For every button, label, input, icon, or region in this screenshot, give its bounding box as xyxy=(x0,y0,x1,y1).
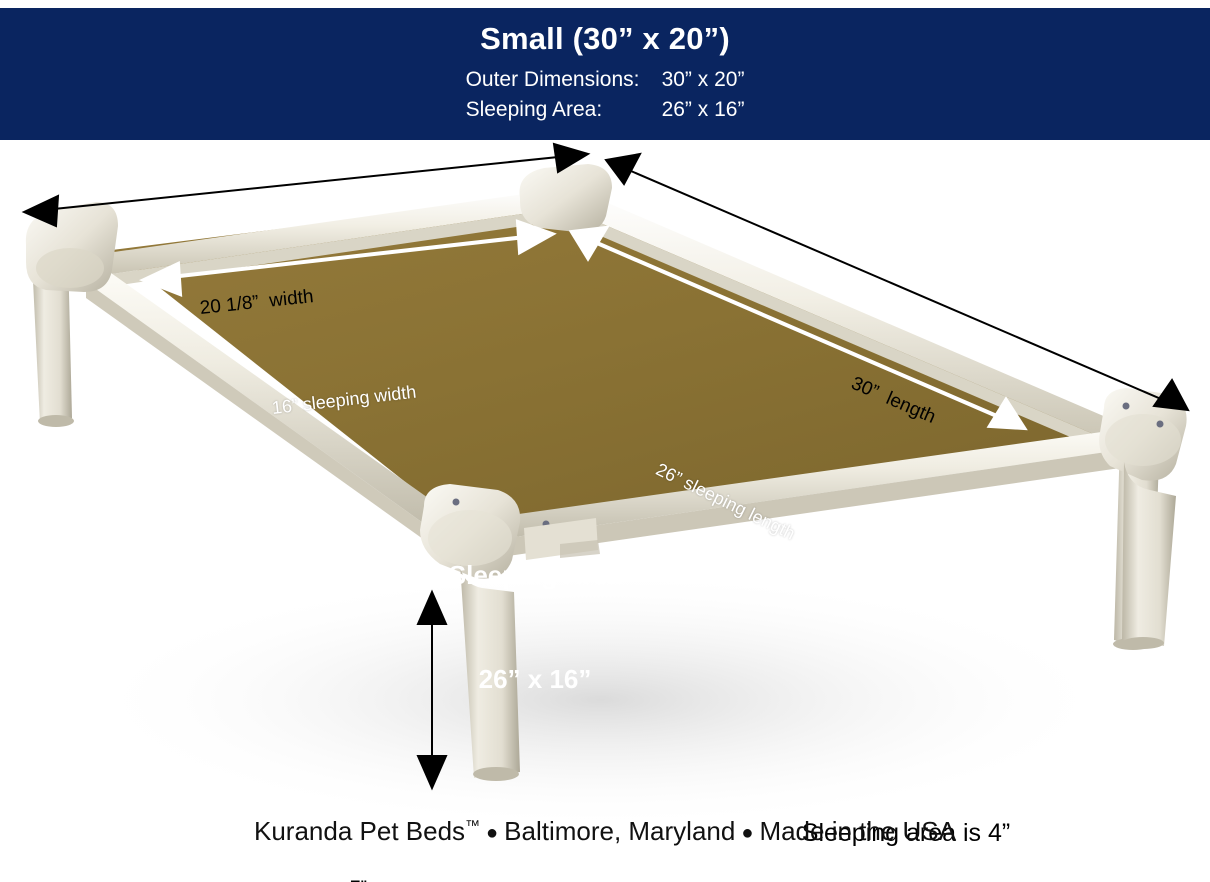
spec-label-sleeping-area: Sleeping Area: xyxy=(466,95,662,125)
spec-value-outer-dimensions: 30” x 20” xyxy=(662,65,745,95)
footer-brandline: Kuranda Pet Beds™●Baltimore, Maryland●Ma… xyxy=(0,816,1210,847)
header-banner: Small (30” x 20”) Outer Dimensions: 30” … xyxy=(0,8,1210,140)
corner-joint-back-top xyxy=(520,164,613,232)
footer-city: Baltimore, Maryland xyxy=(504,816,735,846)
height-value: 7” xyxy=(350,875,402,882)
sleeping-area-callout-title: Sleeping Area xyxy=(0,558,1070,593)
product-dimension-diagram: Small (30” x 20”) Outer Dimensions: 30” … xyxy=(0,0,1210,882)
footer-separator-icon: ● xyxy=(480,822,504,844)
spec-value-sleeping-area: 26” x 16” xyxy=(662,95,745,125)
sleeping-area-callout: Sleeping Area 26” x 16” xyxy=(0,488,1070,767)
header-spec-list: Outer Dimensions: 30” x 20” Sleeping Are… xyxy=(466,65,745,126)
spec-row-sleeping-area: Sleeping Area: 26” x 16” xyxy=(466,95,745,125)
rail-note: Sleeping area is 4” smaller than bed siz… xyxy=(716,745,1096,882)
spec-label-outer-dimensions: Outer Dimensions: xyxy=(466,65,662,95)
footer-brand: Kuranda Pet Beds xyxy=(254,816,465,846)
trademark-symbol: ™ xyxy=(465,817,480,834)
sleeping-area-callout-dims: 26” x 16” xyxy=(0,662,1070,697)
footer-origin: Made in the USA xyxy=(759,816,956,846)
page-title: Small (30” x 20”) xyxy=(0,20,1210,59)
spec-row-outer-dimensions: Outer Dimensions: 30” x 20” xyxy=(466,65,745,95)
bed-illustration: 20 1/8” width 30” length 16” sleeping wi… xyxy=(0,140,1210,882)
leg-front-right xyxy=(1122,462,1176,649)
footer-separator-icon-2: ● xyxy=(735,822,759,844)
